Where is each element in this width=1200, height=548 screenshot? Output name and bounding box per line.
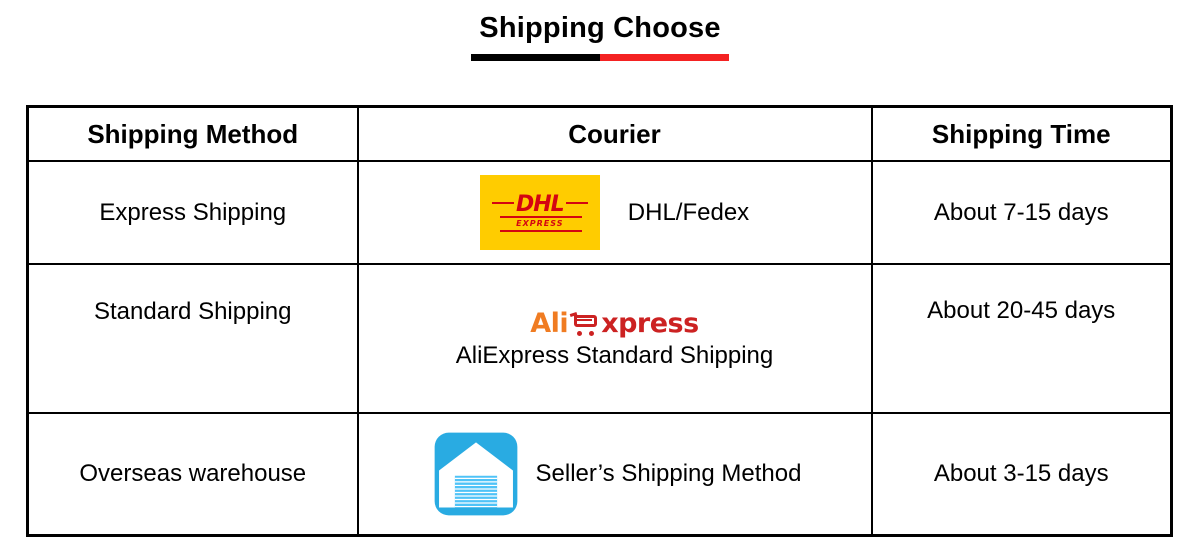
dhl-stripe-bottom-icon [500, 230, 582, 232]
aliexpress-ali-text: Ali [530, 308, 568, 340]
cell-courier: Seller’s Shipping Method [358, 413, 872, 536]
cell-shipping-method: Standard Shipping [28, 264, 358, 413]
dhl-express-label: EXPRESS [480, 219, 600, 228]
page-title-block: Shipping Choose [0, 10, 1200, 61]
courier-label: DHL/Fedex [628, 199, 749, 227]
cell-shipping-time: About 7-15 days [872, 161, 1172, 264]
cart-wheel-left-icon [577, 331, 582, 336]
table-row: Standard Shipping Ali xpress [28, 264, 1172, 413]
cell-shipping-time: About 20-45 days [872, 264, 1172, 413]
title-underline-rule [471, 54, 729, 61]
column-header-courier: Courier [358, 107, 872, 162]
page-title: Shipping Choose [0, 10, 1200, 46]
title-rule-red-segment [600, 54, 729, 61]
cart-bar-icon [577, 319, 592, 321]
courier-content: Seller’s Shipping Method [359, 430, 871, 518]
dhl-logo: DHL EXPRESS [480, 175, 600, 250]
dhl-wordmark: DHL [480, 195, 600, 215]
cart-wheel-right-icon [589, 331, 594, 336]
cell-shipping-method: Overseas warehouse [28, 413, 358, 536]
shipping-options-table: Shipping Method Courier Shipping Time Ex… [26, 105, 1173, 537]
courier-content: DHL EXPRESS DHL/Fedex [359, 175, 871, 250]
title-rule-black-segment [471, 54, 600, 61]
table-header-row: Shipping Method Courier Shipping Time [28, 107, 1172, 162]
courier-label: AliExpress Standard Shipping [456, 342, 774, 370]
dhl-stripe-mid-icon [500, 216, 582, 218]
column-header-shipping-method: Shipping Method [28, 107, 358, 162]
aliexpress-xpress-text: xpress [601, 308, 699, 340]
warehouse-icon [432, 430, 520, 518]
table-row: Express Shipping DHL EXPRESS DHL/Fedex A… [28, 161, 1172, 264]
cell-courier: Ali xpress AliExpress Standard Shipping [358, 264, 872, 413]
cart-body-icon [574, 315, 597, 327]
aliexpress-logo: Ali xpress [530, 308, 698, 340]
courier-label: Seller’s Shipping Method [536, 460, 802, 488]
column-header-shipping-time: Shipping Time [872, 107, 1172, 162]
cell-shipping-time: About 3-15 days [872, 413, 1172, 536]
courier-content: Ali xpress AliExpress Standard Shipping [359, 308, 871, 370]
cell-shipping-method: Express Shipping [28, 161, 358, 264]
table-row: Overseas warehouse [28, 413, 1172, 536]
cell-courier: DHL EXPRESS DHL/Fedex [358, 161, 872, 264]
shopping-cart-icon [570, 311, 600, 337]
